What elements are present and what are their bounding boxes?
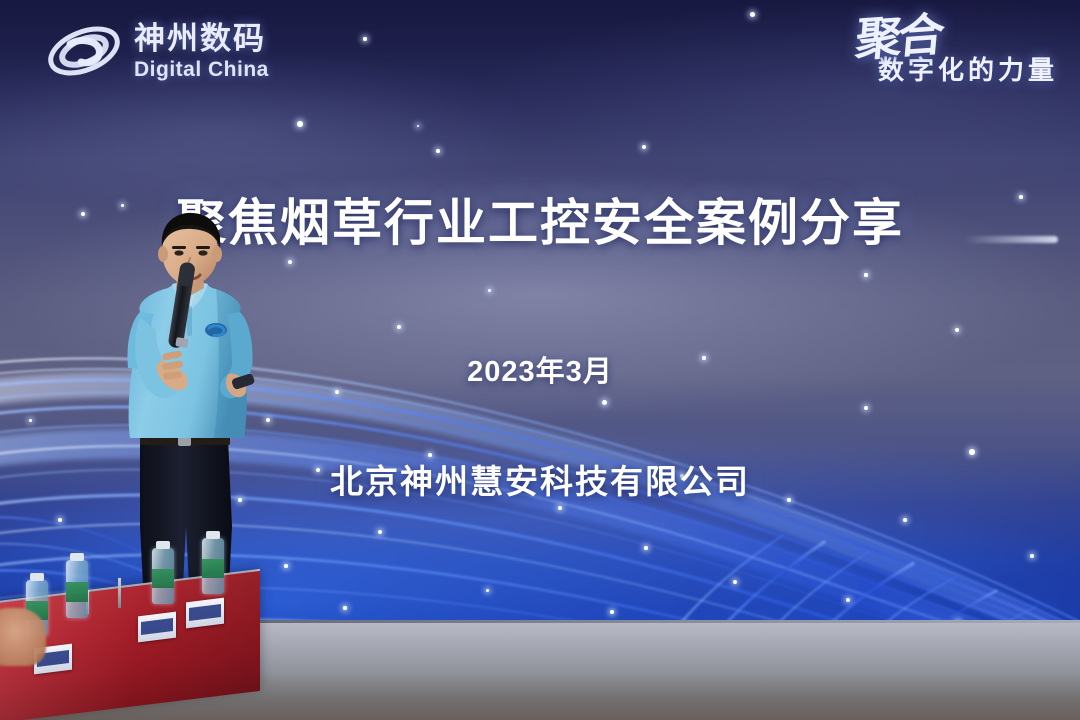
bottle-cap	[30, 573, 44, 581]
name-card-text	[189, 604, 221, 621]
digital-china-logo: 神州数码 Digital China	[44, 18, 269, 84]
water-bottle	[66, 560, 88, 618]
water-bottle	[152, 548, 174, 604]
digital-china-name-cn: 神州数码	[134, 23, 269, 54]
bottle-label	[202, 559, 224, 578]
bottle-label	[152, 569, 174, 588]
bottle-cap	[206, 531, 220, 539]
name-card	[186, 598, 224, 629]
water-bottle	[202, 538, 224, 594]
name-card	[138, 612, 176, 643]
swirl-galaxy-icon	[44, 18, 124, 84]
name-card-text	[141, 618, 173, 635]
bottle-cap	[70, 553, 84, 561]
bottle-label	[66, 582, 88, 602]
event-logo: 聚合 数字化的力量	[856, 16, 1058, 87]
company-badge-icon	[205, 323, 227, 337]
digital-china-name-en: Digital China	[134, 59, 269, 80]
seated-attendee	[0, 608, 46, 666]
light-streak-highlight	[963, 236, 1058, 243]
table-microphone-stand	[118, 578, 121, 608]
foreground-head-table	[0, 584, 260, 720]
conference-stage-photo: 神州数码 Digital China 聚合 数字化的力量 聚焦烟草行业工控安全案…	[0, 0, 1080, 720]
bottle-cap	[156, 541, 170, 549]
event-logo-calligraphy: 聚合	[854, 13, 943, 62]
